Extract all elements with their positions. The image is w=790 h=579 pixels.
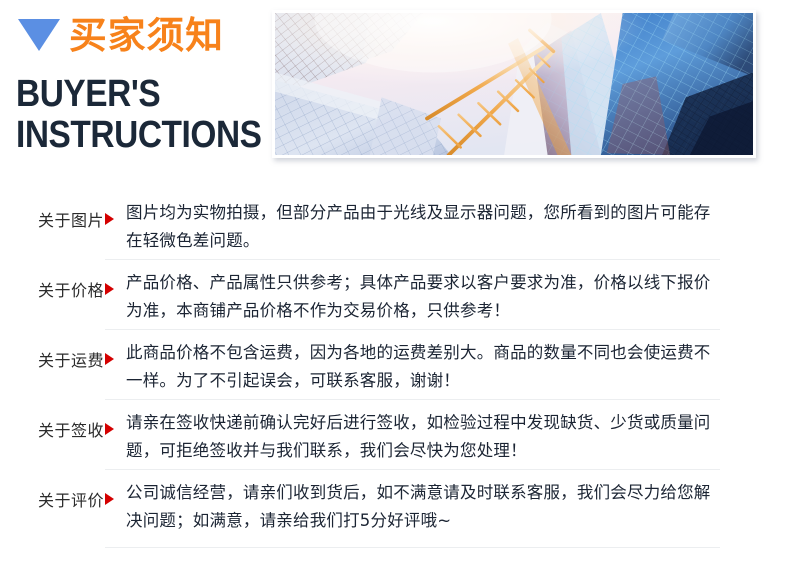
triangle-down-icon xyxy=(18,19,60,51)
hero-image-artwork xyxy=(275,13,753,155)
instruction-row-images: 关于图片 图片均为实物拍摄，但部分产品由于光线及显示器问题，您所看到的图片可能存… xyxy=(0,190,790,260)
instruction-row-shipping: 关于运费 此商品价格不包含运费，因为各地的运费差别大。商品的数量不同也会使运费不… xyxy=(0,330,790,400)
row-label-images: 关于图片 xyxy=(0,190,104,231)
arrow-right-icon xyxy=(105,213,114,225)
page-title-en: BUYER'S INSTRUCTIONS xyxy=(16,74,262,156)
header-title-block: 买家须知 BUYER'S INSTRUCTIONS xyxy=(0,0,268,180)
hero-image xyxy=(272,10,756,158)
instruction-row-price: 关于价格 产品价格、产品属性只供参考；具体产品要求以客户要求为准，价格以线下报价… xyxy=(0,260,790,330)
instruction-row-receipt: 关于签收 请亲在签收快递前确认完好后进行签收，如检验过程中发现缺货、少货或质量问… xyxy=(0,400,790,470)
row-text-shipping: 此商品价格不包含运费，因为各地的运费差别大。商品的数量不同也会使运费不一样。为了… xyxy=(114,330,790,395)
page-title-en-line1: BUYER'S xyxy=(16,74,262,115)
instruction-row-review: 关于评价 公司诚信经营，请亲们收到货后，如不满意请及时联系客服，我们会尽力给您解… xyxy=(0,470,790,548)
arrow-right-icon xyxy=(105,353,114,365)
arrow-right-icon xyxy=(105,283,114,295)
row-text-price: 产品价格、产品属性只供参考；具体产品要求以客户要求为准，价格以线下报价为准，本商… xyxy=(114,260,790,325)
instruction-rows: 关于图片 图片均为实物拍摄，但部分产品由于光线及显示器问题，您所看到的图片可能存… xyxy=(0,190,790,548)
row-text-receipt: 请亲在签收快递前确认完好后进行签收，如检验过程中发现缺货、少货或质量问题，可拒绝… xyxy=(114,400,790,465)
arrow-right-icon xyxy=(105,493,114,505)
row-label-receipt: 关于签收 xyxy=(0,400,104,441)
page-header: 买家须知 BUYER'S INSTRUCTIONS xyxy=(0,0,790,180)
page-title-cn: 买家须知 xyxy=(69,13,224,58)
row-text-images: 图片均为实物拍摄，但部分产品由于光线及显示器问题，您所看到的图片可能存在轻微色差… xyxy=(114,190,790,255)
row-divider xyxy=(105,547,720,548)
row-label-price: 关于价格 xyxy=(0,260,104,301)
buyer-instructions-page: { "header": { "title_cn": "买家须知", "title… xyxy=(0,0,790,579)
page-title-en-line2: INSTRUCTIONS xyxy=(16,115,262,156)
title-row: 买家须知 xyxy=(18,13,221,58)
row-label-shipping: 关于运费 xyxy=(0,330,104,371)
row-label-review: 关于评价 xyxy=(0,470,104,511)
arrow-right-icon xyxy=(105,423,114,435)
row-text-review: 公司诚信经营，请亲们收到货后，如不满意请及时联系客服，我们会尽力给您解决问题；如… xyxy=(114,470,790,535)
